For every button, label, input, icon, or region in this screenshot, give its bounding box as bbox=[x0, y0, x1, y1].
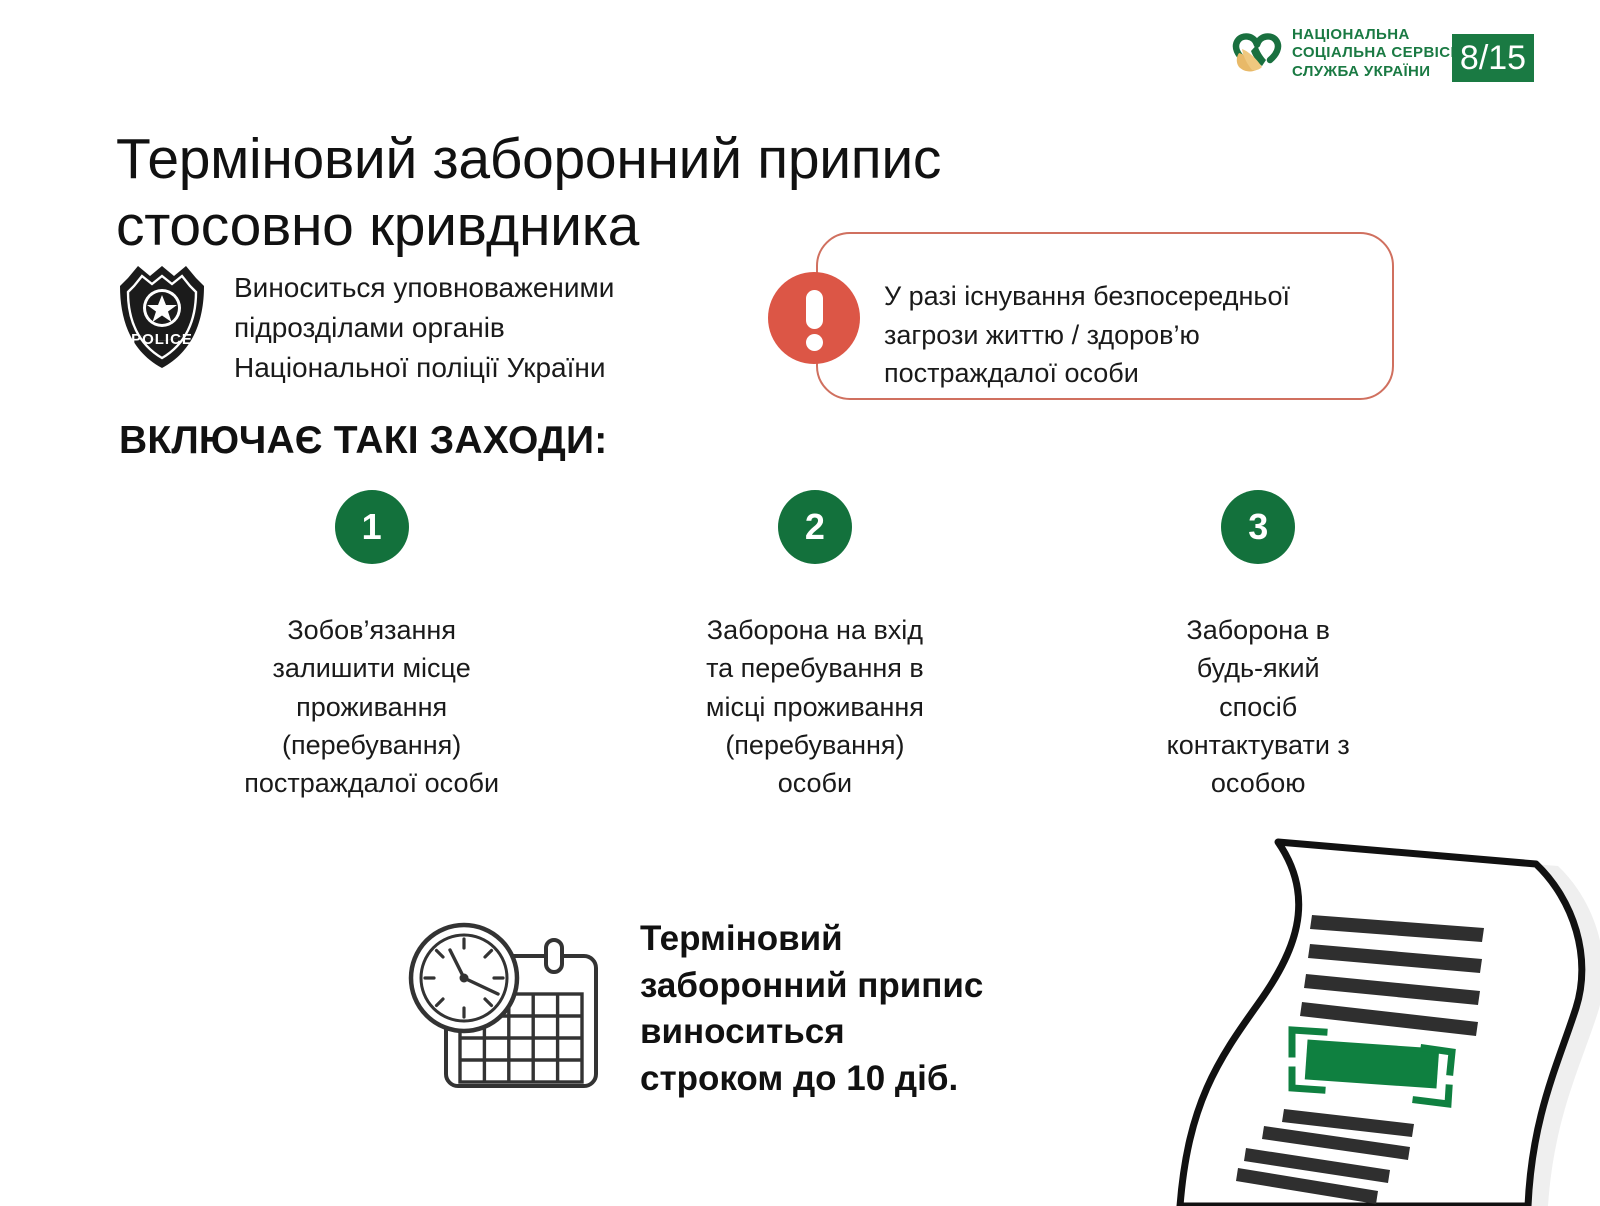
police-authority-note: POLICE Виноситься уповноваженими підрозд… bbox=[116, 262, 736, 387]
measure-number-badge: 3 bbox=[1221, 490, 1295, 564]
measure-item: 1 Зобов’язання залишити місце проживання… bbox=[150, 490, 593, 803]
measure-text: Зобов’язання залишити місце проживання (… bbox=[244, 611, 499, 803]
police-badge-icon: POLICE bbox=[116, 264, 208, 370]
measure-number-badge: 1 bbox=[335, 490, 409, 564]
brand-text: НАЦІОНАЛЬНА СОЦІАЛЬНА СЕРВІСНА СЛУЖБА УК… bbox=[1292, 26, 1473, 80]
measure-text: Заборона на вхід та перебування в місці … bbox=[706, 611, 924, 803]
heart-hand-logo-icon bbox=[1232, 27, 1282, 79]
measure-item: 2 Заборона на вхід та перебування в місц… bbox=[593, 490, 1036, 803]
measure-item: 3 Заборона в будь-який спосіб контактува… bbox=[1037, 490, 1480, 803]
exclamation-circle-icon bbox=[768, 272, 860, 364]
measures-list: 1 Зобов’язання залишити місце проживання… bbox=[150, 490, 1480, 803]
clock-calendar-icon bbox=[398, 912, 612, 1092]
brand-line-1: НАЦІОНАЛЬНА bbox=[1292, 26, 1473, 43]
brand-line-3: СЛУЖБА УКРАЇНИ bbox=[1292, 63, 1473, 80]
exclamation-stem bbox=[806, 290, 823, 329]
police-note-text: Виноситься уповноваженими підрозділами о… bbox=[234, 262, 614, 387]
section-heading: ВКЛЮЧАЄ ТАКІ ЗАХОДИ: bbox=[119, 419, 607, 463]
svg-text:POLICE: POLICE bbox=[131, 331, 193, 348]
brand-line-2: СОЦІАЛЬНА СЕРВІСНА bbox=[1292, 44, 1473, 61]
brand-logo: НАЦІОНАЛЬНА СОЦІАЛЬНА СЕРВІСНА СЛУЖБА УК… bbox=[1232, 26, 1473, 80]
measure-text: Заборона в будь-який спосіб контактувати… bbox=[1167, 611, 1350, 803]
term-text: Терміновий заборонний припис виноситься … bbox=[640, 916, 1110, 1102]
page-counter-badge: 8/15 bbox=[1452, 34, 1534, 82]
measure-number-badge: 2 bbox=[778, 490, 852, 564]
exclamation-dot bbox=[806, 334, 823, 351]
alert-text: У разі існування безпосередньої загрози … bbox=[884, 277, 1394, 393]
wavy-document-icon bbox=[1128, 806, 1600, 1206]
